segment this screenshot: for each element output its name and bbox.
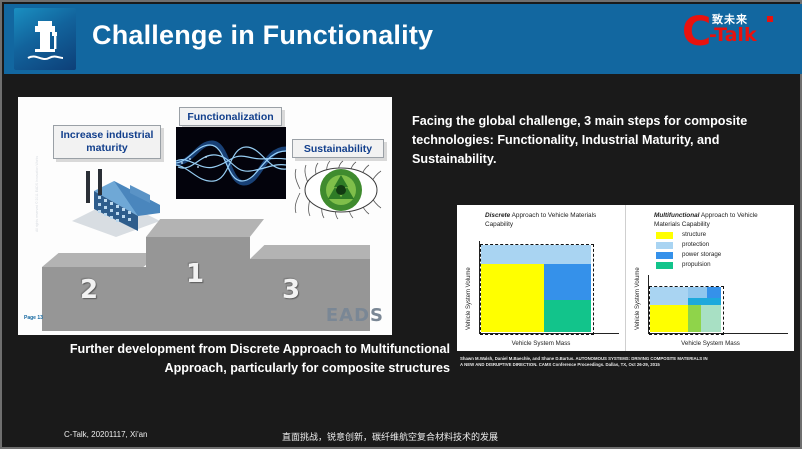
eads-logo: EADS (326, 305, 384, 326)
footer-center-text: 直面挑战，锐意创新，碳纤维航空复合材料技术的发展 (282, 430, 498, 443)
slide-header: Challenge in Functionality C 致未来 -Talk (4, 4, 802, 74)
waveform-image (176, 127, 286, 199)
page-title: Challenge in Functionality (92, 20, 433, 51)
callout-functionalization: Functionalization (179, 107, 282, 126)
legend-label-protection: protection (682, 241, 709, 248)
composite-approach-figure: Discrete Approach to Vehicle Materials C… (457, 205, 794, 351)
brand-talk-text: -Talk (709, 26, 757, 45)
chart-1-y-axis-label: Vehicle System Volume (466, 267, 472, 330)
institution-logo (14, 8, 76, 70)
body-paragraph: Facing the global challenge, 3 main step… (412, 112, 788, 169)
legend-swatch-power-storage (656, 252, 673, 259)
chart-2-envelope (649, 286, 724, 335)
legend-label-propulsion: propulsion (682, 261, 711, 268)
chart-2-y-axis-label: Vehicle System Volume (635, 267, 641, 330)
factory-icon (64, 169, 168, 239)
legend-swatch-propulsion (656, 262, 673, 269)
callout-increase-industrial-maturity: Increase industrial maturity (53, 125, 161, 159)
legend-label-power-storage: power storage (682, 251, 721, 258)
chart-1-title: Discrete Approach to Vehicle Materials C… (485, 212, 615, 229)
slide-canvas: Challenge in Functionality C 致未来 -Talk (0, 0, 802, 449)
chart-2-x-axis-label: Vehicle System Mass (626, 340, 795, 347)
podium-illustration: 2 1 3 Increase industrial maturity Funct… (18, 97, 392, 335)
legend-label-structure: structure (682, 231, 706, 238)
figure-citation-line-2: A NEW AND DISRUPTIVE DIRECTION. CAMX Con… (460, 362, 794, 368)
recycle-eye-icon (290, 159, 392, 221)
chart-1-envelope (480, 244, 594, 335)
brand-letter-c: C (682, 12, 711, 52)
legend-swatch-protection (656, 242, 673, 249)
chart-2-title: Multifunctional Approach to Vehicle Mate… (654, 212, 784, 229)
brand-dot-icon (767, 16, 773, 22)
podium-rank-1: 1 (186, 259, 204, 289)
figure-caption: Further development from Discrete Approa… (26, 340, 450, 378)
nottingham-tower-icon (14, 8, 76, 70)
chart-1-title-emph: Discrete (485, 212, 510, 219)
figure-citation: Shawn M.Walsh, Daniel M.Baechle, and Sha… (460, 356, 794, 369)
podium-rank-3: 3 (282, 275, 300, 305)
podium-rank-2: 2 (80, 275, 98, 305)
chart-discrete-approach: Discrete Approach to Vehicle Materials C… (457, 205, 625, 351)
source-copyright-note: All rights reserved © 2011 EADS Innovati… (35, 122, 39, 232)
chart-multifunctional-approach: Multifunctional Approach to Vehicle Mate… (625, 205, 795, 351)
ctalk-brand-logo: C 致未来 -Talk (682, 8, 794, 54)
callout-sustainability: Sustainability (292, 139, 384, 158)
source-page-label: Page 13 (24, 315, 43, 321)
chart-1-x-axis-label: Vehicle System Mass (457, 340, 625, 347)
footer-left-text: C-Talk, 20201117, Xi'an (64, 430, 148, 439)
legend-swatch-structure (656, 232, 673, 239)
chart-2-title-emph: Multifunctional (654, 212, 699, 219)
